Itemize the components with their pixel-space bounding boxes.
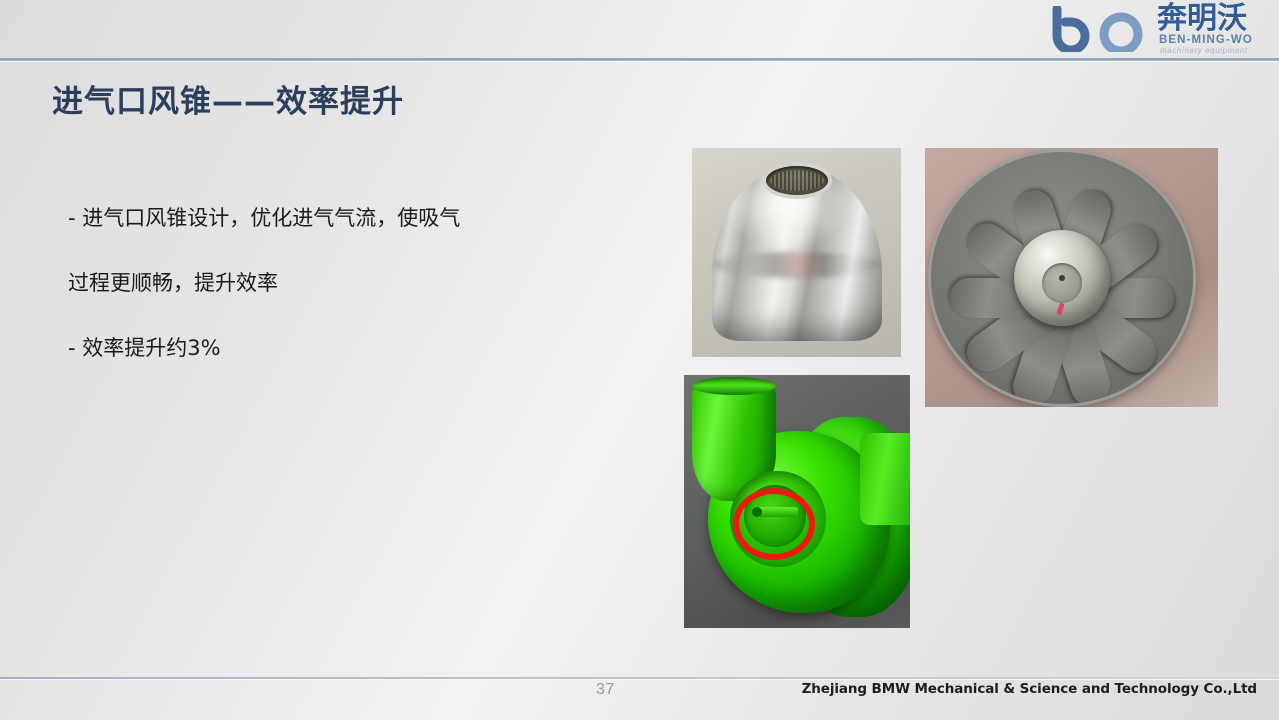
impeller-photo [925, 148, 1218, 407]
impeller-center-bolt [1059, 275, 1065, 281]
blower-outlet-duct [860, 433, 910, 525]
page-title: 进气口风锥——效率提升 [52, 76, 404, 121]
footer-company-name: Zhejiang BMW Mechanical & Science and Te… [802, 681, 1257, 697]
bullet-text-block: - 进气口风锥设计，优化进气气流，使吸气 过程更顺畅，提升效率 - 效率提升约3… [68, 186, 628, 381]
red-highlight-ellipse [733, 488, 815, 560]
cad-model-photo [684, 375, 910, 628]
presentation-slide: 奔明沃 BEN-MING-WO machinery equipment 进气口风… [0, 0, 1279, 720]
bullet-line-1: - 进气口风锥设计，优化进气气流，使吸气 [68, 186, 628, 251]
logo-english-name: BEN-MING-WO [1159, 34, 1253, 46]
impeller-hub-ring [1042, 263, 1082, 303]
company-logo: 奔明沃 BEN-MING-WO machinery equipment [1049, 2, 1269, 56]
bullet-line-2: 过程更顺畅，提升效率 [68, 251, 628, 316]
cone-thread-texture [770, 170, 824, 191]
logo-chinese-name: 奔明沃 [1157, 3, 1247, 35]
impeller-backplate [931, 152, 1193, 404]
bullet-line-3: - 效率提升约3% [68, 316, 628, 381]
page-number: 37 [596, 681, 615, 699]
footer-divider-highlight [0, 679, 1279, 680]
header-divider-highlight [0, 61, 1279, 62]
inlet-cone-photo [692, 148, 901, 357]
bo-monogram-icon [1051, 6, 1163, 52]
cone-reflection-band [714, 252, 880, 278]
logo-tagline: machinery equipment [1160, 46, 1248, 55]
blower-inlet-flange [692, 377, 776, 395]
